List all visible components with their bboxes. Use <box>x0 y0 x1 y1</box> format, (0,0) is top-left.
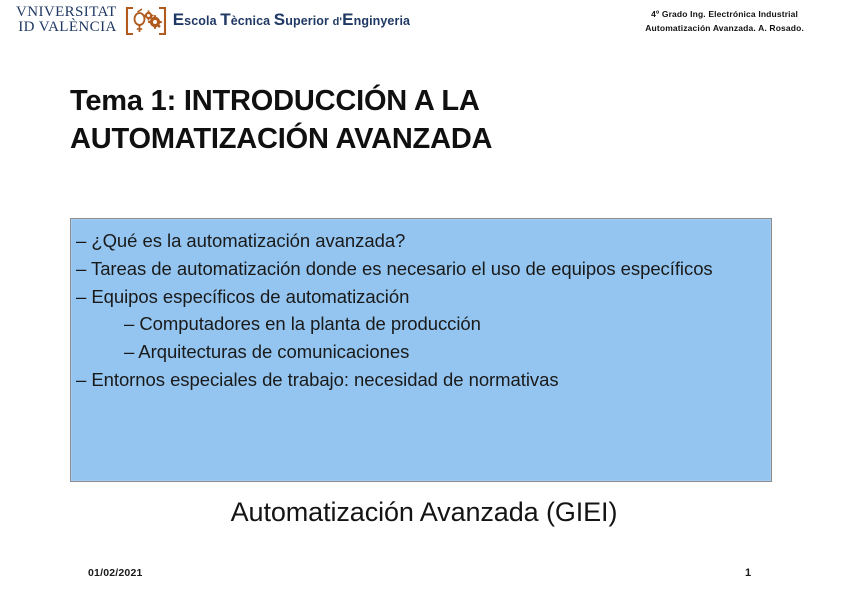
universitat-line-1: VNIVERSITAT <box>16 5 117 20</box>
etse-apostrophe: d' <box>333 16 343 28</box>
slide-header: VNIVERSITAT ID VALÈNCIA <box>0 0 848 46</box>
agenda-bullet-item: – Arquitecturas de comunicaciones <box>76 338 765 366</box>
slide-title-line-1: Tema 1: INTRODUCCIÓN A LA <box>70 82 630 120</box>
slide-title: Tema 1: INTRODUCCIÓN A LA AUTOMATIZACIÓN… <box>70 82 630 159</box>
etse-w1-rest: scola <box>184 14 216 28</box>
course-info-line-2: Automatización Avanzada. A. Rosado. <box>645 22 804 36</box>
footer-date: 01/02/2021 <box>88 567 143 579</box>
agenda-content-box: – ¿Qué es la automatización avanzada? – … <box>70 218 772 482</box>
etse-w4-cap: E <box>342 10 353 29</box>
escola-tecnica-superior-label: Escola Tècnica Superior d'Enginyeria <box>173 10 410 30</box>
etse-w2-cap: T <box>220 10 230 29</box>
etse-w4-rest: nginyeria <box>354 14 410 28</box>
course-info-line-1: 4º Grado Ing. Electrónica Industrial <box>645 8 804 22</box>
slide-title-line-2: AUTOMATIZACIÓN AVANZADA <box>70 120 630 158</box>
agenda-bullet-item: – ¿Qué es la automatización avanzada? <box>76 227 765 255</box>
universitat-valencia-wordmark: VNIVERSITAT ID VALÈNCIA <box>16 5 117 36</box>
agenda-bullet-item: – Computadores en la planta de producció… <box>76 310 765 338</box>
agenda-bullet-list: – ¿Qué es la automatización avanzada? – … <box>76 227 765 394</box>
universitat-line-2: ID VALÈNCIA <box>16 20 117 35</box>
agenda-bullet-item: – Equipos específicos de automatización <box>76 283 765 311</box>
slide-canvas: VNIVERSITAT ID VALÈNCIA <box>0 0 848 599</box>
etse-w1-cap: E <box>173 10 184 29</box>
course-caption: Automatización Avanzada (GIEI) <box>0 497 848 528</box>
etse-w3-cap: S <box>274 10 285 29</box>
agenda-bullet-item: – Entornos especiales de trabajo: necesi… <box>76 366 765 394</box>
etse-w2-rest: ècnica <box>231 14 271 28</box>
course-info-block: 4º Grado Ing. Electrónica Industrial Aut… <box>645 8 804 35</box>
agenda-bullet-item: – Tareas de automatización donde es nece… <box>76 255 765 283</box>
bracket-gears-icon <box>123 6 169 36</box>
etse-w3-rest: uperior <box>285 14 329 28</box>
footer-page-number: 1 <box>745 567 751 579</box>
institution-logo-group: VNIVERSITAT ID VALÈNCIA <box>16 5 410 36</box>
